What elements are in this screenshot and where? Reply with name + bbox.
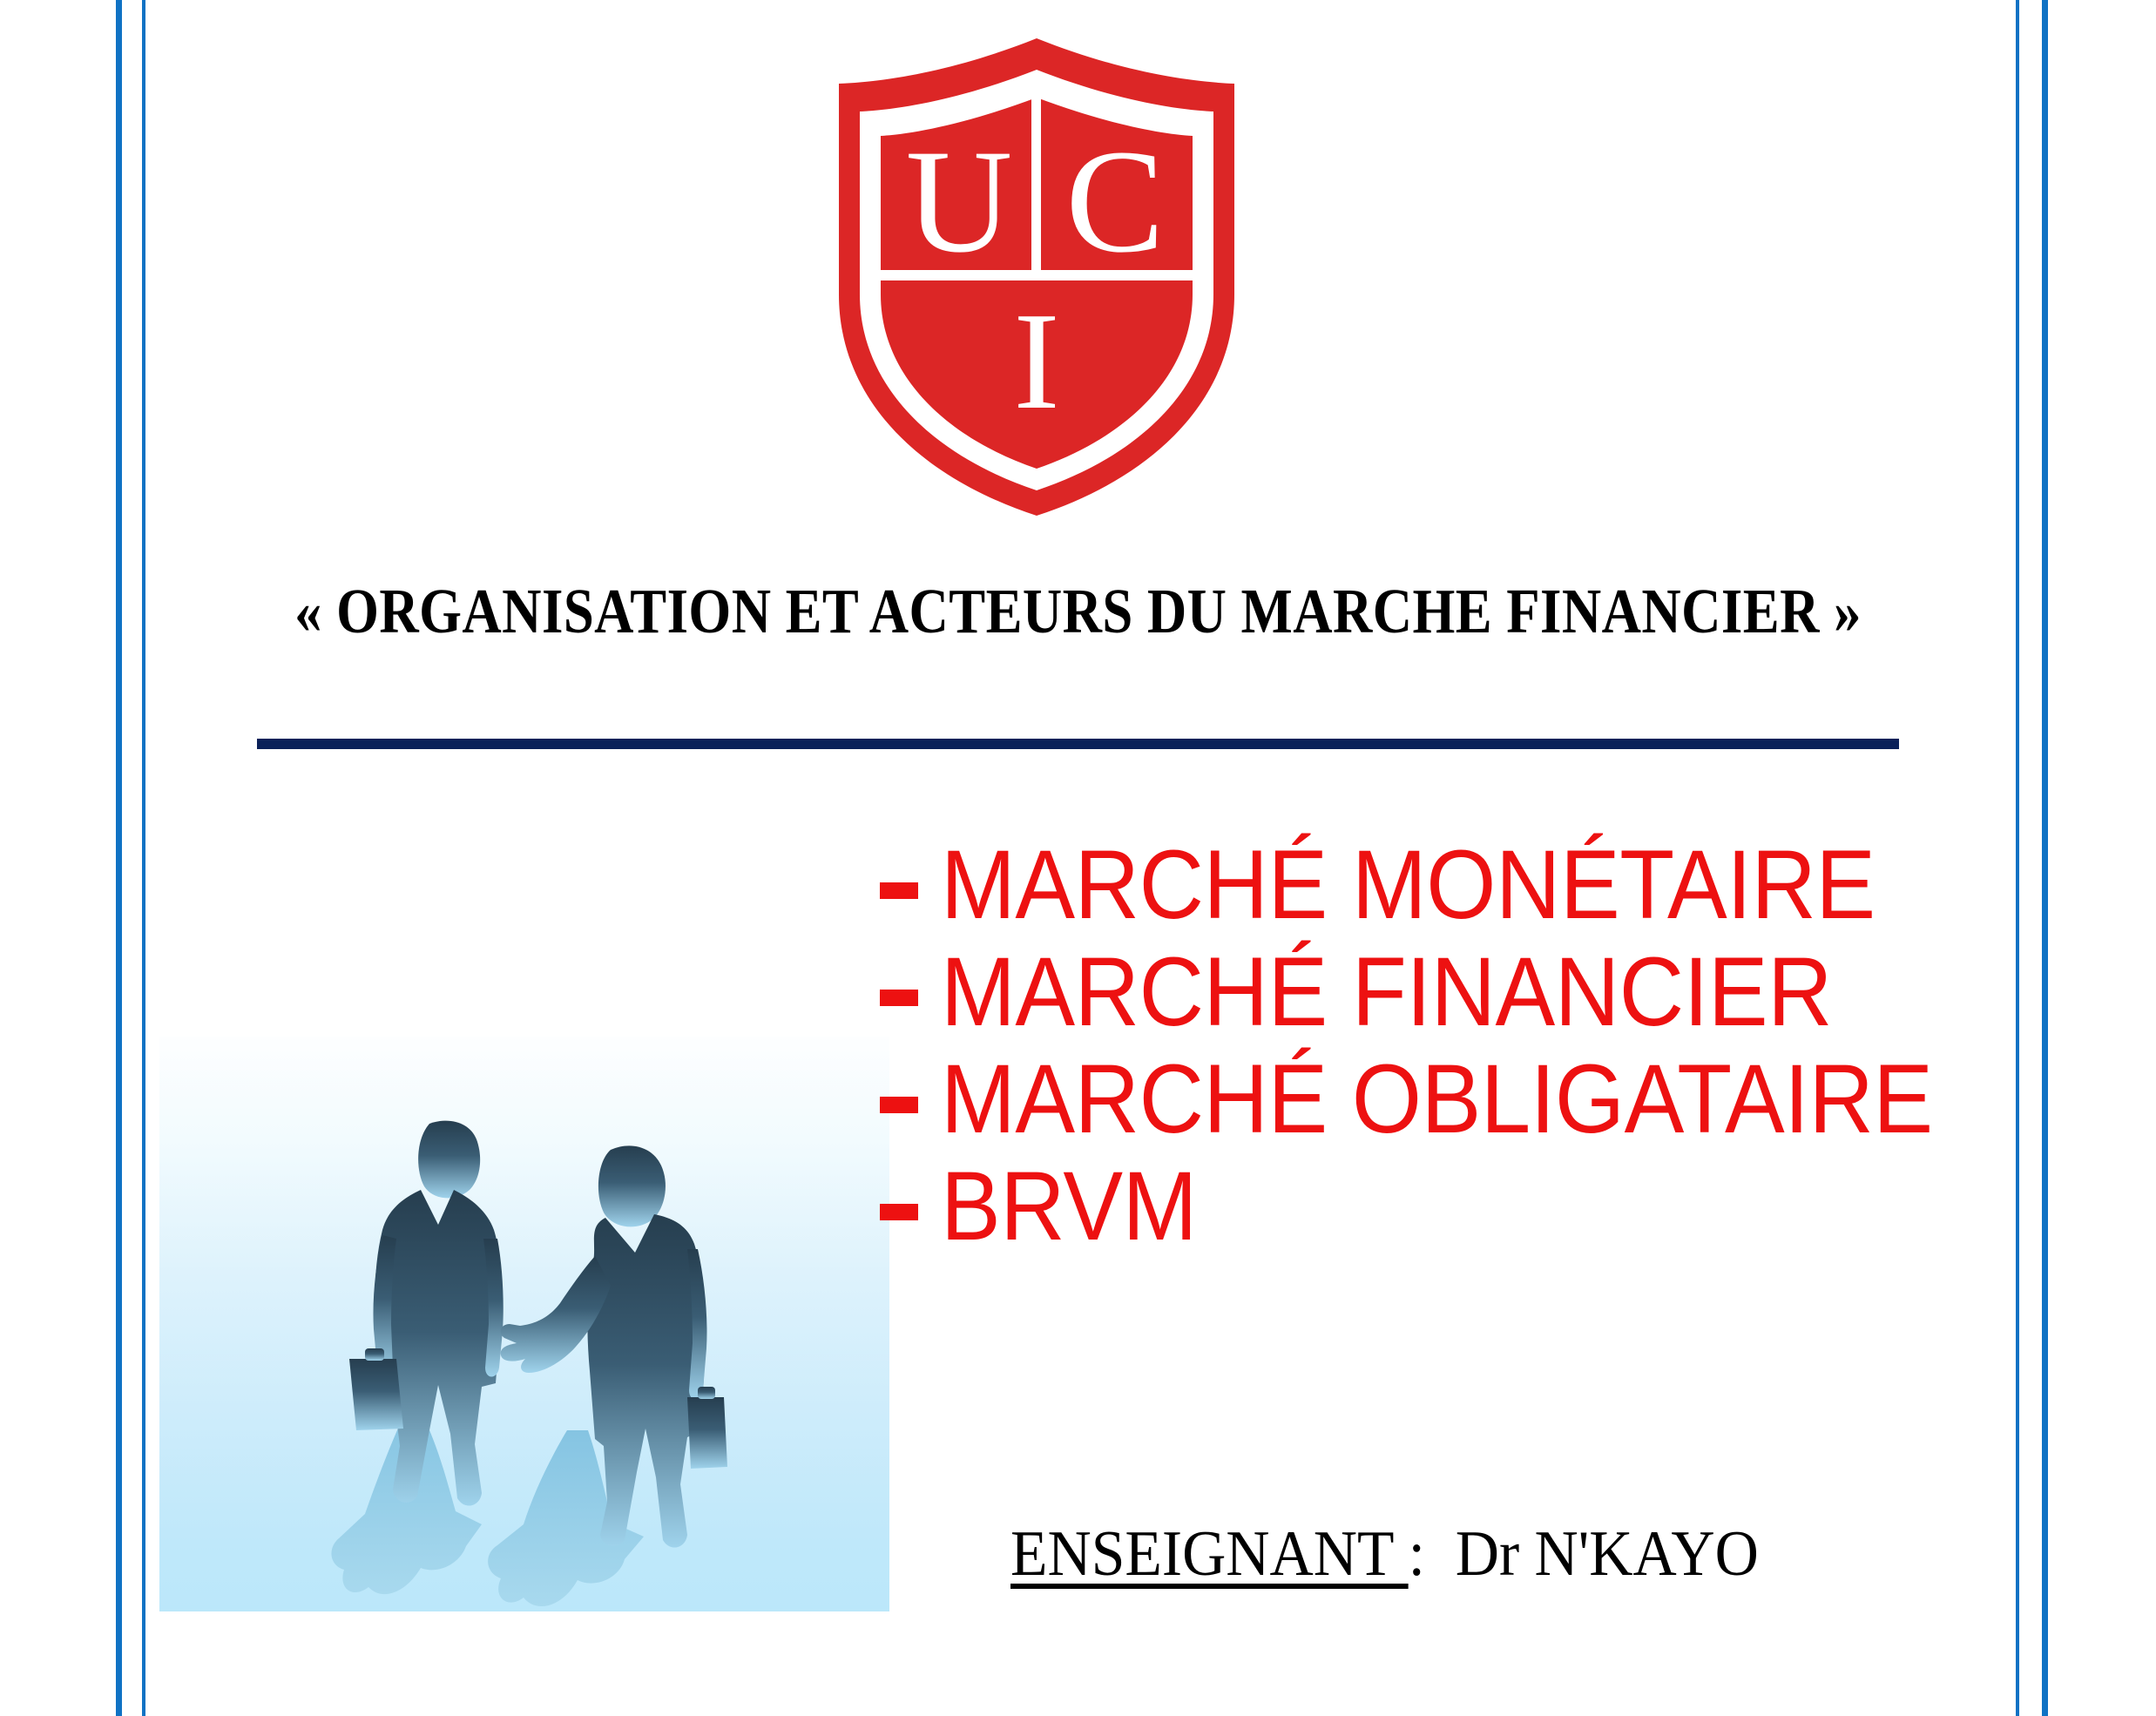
dash-bullet-icon bbox=[880, 1097, 918, 1113]
handshake-illustration bbox=[159, 1037, 889, 1611]
logo-letter-u: U bbox=[906, 119, 1013, 283]
uci-shield-logo: U C I bbox=[832, 33, 1241, 521]
dash-bullet-icon bbox=[880, 882, 918, 899]
teacher-label: ENSEIGNANT bbox=[1010, 1518, 1409, 1590]
topic-label: MARCHÉ FINANCIER bbox=[941, 943, 1832, 1041]
list-item: MARCHÉ MONÉTAIRE bbox=[880, 836, 2117, 943]
teacher-credit: ENSEIGNANT : Dr N'KAYO bbox=[1010, 1517, 1759, 1591]
logo-letter-i: I bbox=[1013, 283, 1059, 438]
page-title: « ORGANISATION ET ACTEURS DU MARCHE FINA… bbox=[151, 575, 2005, 648]
topic-label: MARCHÉ OBLIGATAIRE bbox=[941, 1051, 1933, 1148]
list-item: MARCHÉ OBLIGATAIRE bbox=[880, 1051, 2117, 1158]
dash-bullet-icon bbox=[880, 990, 918, 1006]
topic-list: MARCHÉ MONÉTAIRE MARCHÉ FINANCIER MARCHÉ… bbox=[880, 836, 2117, 1265]
topic-label: BRVM bbox=[941, 1158, 1197, 1255]
list-item: MARCHÉ FINANCIER bbox=[880, 943, 2117, 1051]
teacher-name: Dr N'KAYO bbox=[1456, 1518, 1759, 1590]
logo-letter-c: C bbox=[1065, 119, 1164, 283]
list-item: BRVM bbox=[880, 1158, 2117, 1265]
topic-label: MARCHÉ MONÉTAIRE bbox=[941, 836, 1876, 934]
border-rule-left-outer bbox=[116, 0, 122, 1716]
teacher-separator: : bbox=[1409, 1518, 1425, 1590]
dash-bullet-icon bbox=[880, 1204, 918, 1220]
businessman-right-silhouette bbox=[501, 1145, 727, 1547]
title-divider bbox=[257, 739, 1899, 749]
border-rule-left-inner bbox=[142, 0, 145, 1716]
cover-page: U C I « ORGANISATION ET ACTEURS DU MARCH… bbox=[0, 0, 2156, 1716]
